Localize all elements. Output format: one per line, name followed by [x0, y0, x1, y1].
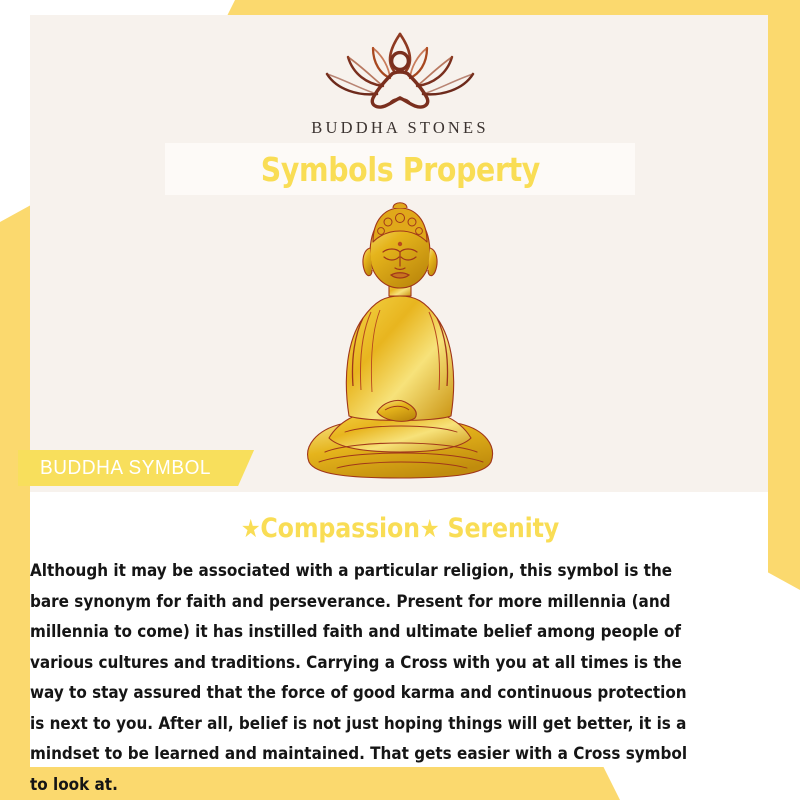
buddha-symbol-tag: BUDDHA SYMBOL: [18, 450, 254, 486]
star-icon-left: ★: [241, 514, 261, 543]
lotus-meditation-icon: [315, 24, 485, 112]
star-icon-right: ★: [420, 514, 440, 543]
brand-name: BUDDHA STONES: [311, 118, 488, 138]
page-title: Symbols Property: [260, 150, 539, 189]
page-title-band: Symbols Property: [165, 143, 635, 195]
headline-word-one: Compassion: [260, 513, 419, 544]
body-paragraph: Although it may be associated with a par…: [30, 556, 689, 800]
section-headline: ★Compassion★ Serenity: [48, 513, 752, 544]
buddha-symbol-tag-label: BUDDHA SYMBOL: [40, 457, 211, 480]
headline-word-two: Serenity: [448, 513, 560, 544]
buddha-illustration: [0, 200, 800, 490]
brand-logo: BUDDHA STONES: [0, 24, 800, 138]
poster-canvas: BUDDHA STONES Symbols Property: [0, 0, 800, 800]
seated-buddha-statue-icon: [285, 200, 515, 490]
